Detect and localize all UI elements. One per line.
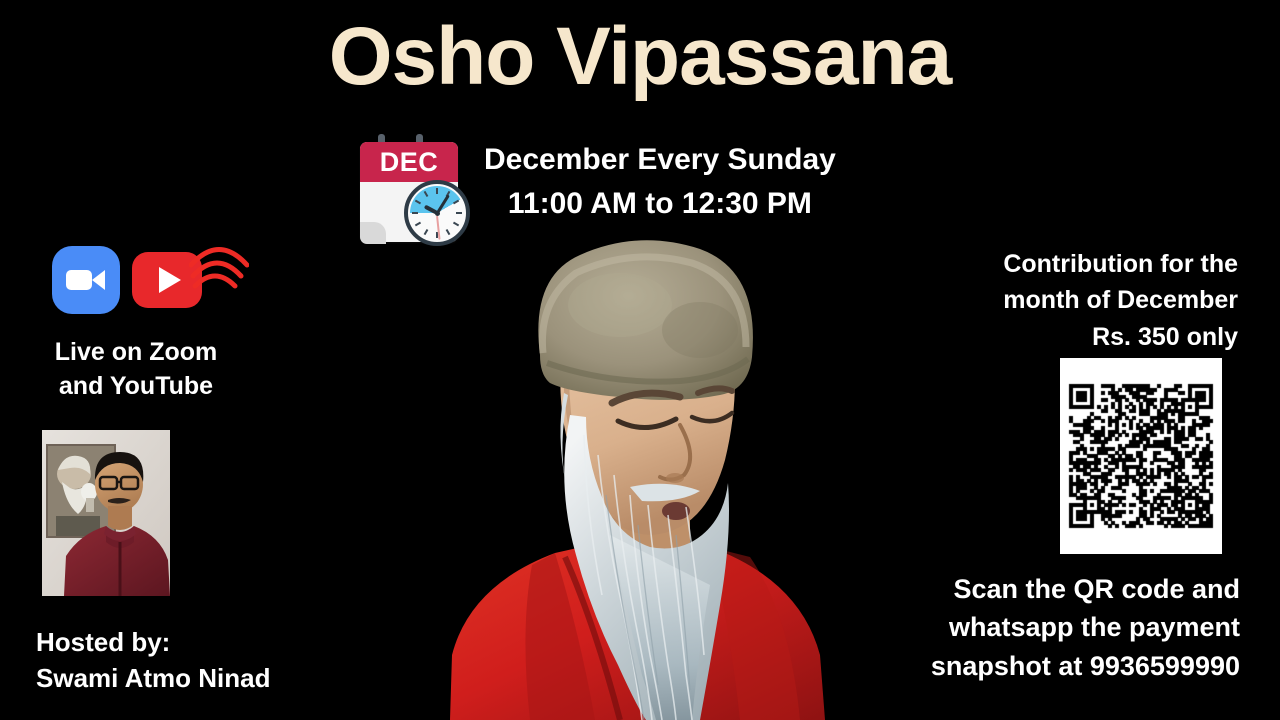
poster-canvas: Osho Vipassana [0,0,1280,720]
calendar-month-label: DEC [360,142,458,182]
clock-tick [456,212,462,214]
contribution-text: Contribution for the month of December R… [938,246,1238,355]
host-portrait-photo [42,430,170,596]
streaming-icon-group [46,232,266,332]
broadcast-waves-icon [189,232,249,292]
schedule-block: DEC December Ever [352,132,836,252]
qr-code-canvas [1060,358,1222,554]
schedule-date-line: December Every Sunday [484,138,836,182]
clock-tick [412,212,418,214]
payment-instructions: Scan the QR code and whatsapp the paymen… [840,570,1240,685]
host-block: Hosted by: Swami Atmo Ninad [36,430,326,697]
zoom-video-icon[interactable] [52,246,120,314]
zoom-camera-lens [92,270,105,290]
streaming-caption-line2: and YouTube [36,370,236,404]
host-label: Hosted by: [36,624,326,660]
contribution-line3: Rs. 350 only [938,319,1238,355]
payment-line3: snapshot at 9936599990 [840,647,1240,685]
clock-center-pin [435,211,440,216]
qr-code-icon[interactable] [1060,358,1222,554]
schedule-time-line: 11:00 AM to 12:30 PM [484,182,836,226]
clock-icon [404,180,470,246]
payment-line2: whatsapp the payment [840,608,1240,646]
calendar-clock-icon-group: DEC [352,134,470,252]
host-caption: Hosted by: Swami Atmo Ninad [36,624,326,697]
youtube-play-triangle [159,267,181,293]
zoom-camera-body [66,270,92,290]
page-title: Osho Vipassana [0,14,1280,100]
streaming-caption: Live on Zoom and YouTube [36,336,236,404]
contribution-line1: Contribution for the [938,246,1238,282]
schedule-text: December Every Sunday 11:00 AM to 12:30 … [484,138,836,225]
streaming-caption-line1: Live on Zoom [36,336,236,370]
payment-line1: Scan the QR code and [840,570,1240,608]
calendar-corner-fold [360,222,386,244]
streaming-block: Live on Zoom and YouTube [36,232,266,404]
contribution-line2: month of December [938,282,1238,318]
clock-tick [436,188,438,194]
host-name: Swami Atmo Ninad [36,660,326,696]
osho-portrait-image [380,235,900,720]
